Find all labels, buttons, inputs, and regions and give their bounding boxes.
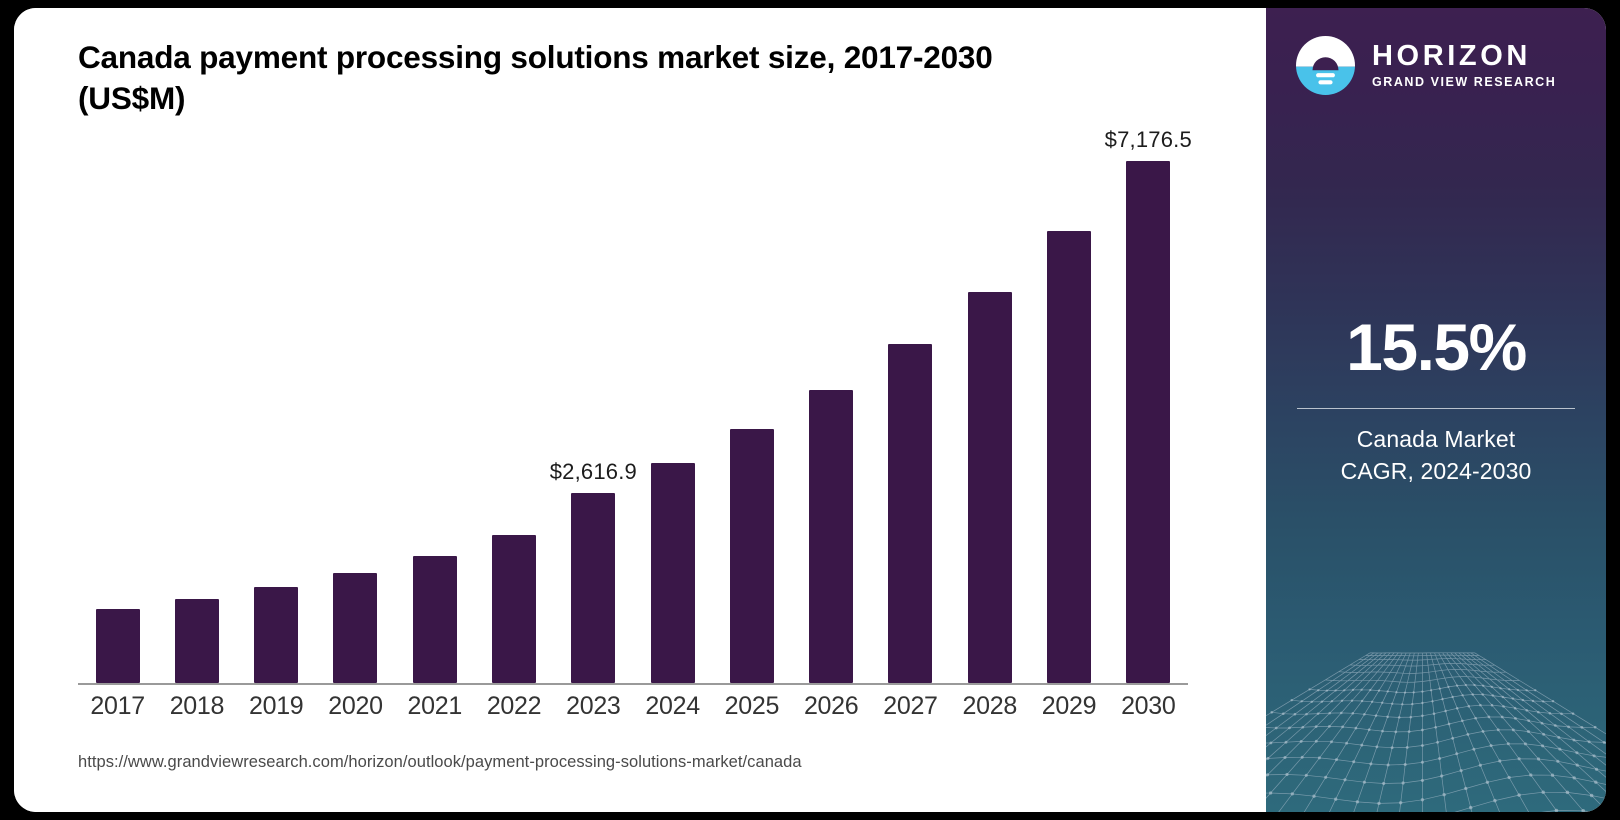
cagr-value: 15.5% [1266, 308, 1606, 386]
bar-slot: $7,176.5 [1109, 130, 1188, 683]
x-axis-label-2022: 2022 [474, 692, 553, 721]
bar-slot [395, 130, 474, 683]
bar[interactable] [730, 429, 774, 683]
x-axis-label-2020: 2020 [316, 692, 395, 721]
bar-slot [474, 130, 553, 683]
cagr-caption-line-2: CAGR, 2024-2030 [1266, 455, 1606, 487]
x-axis-label-2027: 2027 [871, 692, 950, 721]
page-title: Canada payment processing solutions mark… [78, 37, 1188, 119]
chart-card: Canada payment processing solutions mark… [14, 8, 1606, 812]
bar-slot [871, 130, 950, 683]
x-axis-label-2025: 2025 [712, 692, 791, 721]
source-url[interactable]: https://www.grandviewresearch.com/horizo… [78, 753, 802, 772]
bar-slot [78, 130, 157, 683]
logo-wordmark: HORIZON [1372, 41, 1556, 72]
x-axis-label-2017: 2017 [78, 692, 157, 721]
bar-slot [1029, 130, 1108, 683]
x-axis-label-2024: 2024 [633, 692, 712, 721]
bar-slot [633, 130, 712, 683]
bar[interactable] [1047, 231, 1091, 683]
chart-title-line-2: (US$M) [78, 80, 185, 116]
bar[interactable] [333, 573, 377, 683]
bar[interactable] [413, 556, 457, 683]
bar-slot [316, 130, 395, 683]
x-axis-label-2028: 2028 [950, 692, 1029, 721]
bar-slot [712, 130, 791, 683]
bar-slot [950, 130, 1029, 683]
x-axis-label-2030: 2030 [1109, 692, 1188, 721]
x-axis-label-2018: 2018 [157, 692, 236, 721]
logo-tagline: GRAND VIEW RESEARCH [1372, 73, 1556, 91]
x-axis-tick-labels: 2017201820192020202120222023202420252026… [78, 692, 1188, 721]
bar[interactable] [96, 609, 140, 683]
wireframe-terrain-graphic [1266, 622, 1606, 812]
bar[interactable] [175, 599, 219, 683]
brand-sidebar: HORIZON GRAND VIEW RESEARCH 15.5% Canada… [1266, 8, 1606, 812]
x-axis-label-2029: 2029 [1029, 692, 1108, 721]
x-axis-label-2019: 2019 [237, 692, 316, 721]
x-axis-label-2021: 2021 [395, 692, 474, 721]
x-axis-line [78, 683, 1188, 685]
logo-text: HORIZON GRAND VIEW RESEARCH [1372, 41, 1556, 91]
bar-slot [157, 130, 236, 683]
bar-slot: $2,616.9 [554, 130, 633, 683]
bar[interactable] [571, 493, 615, 683]
plot-area: $2,616.9$7,176.5 [78, 130, 1188, 683]
bar[interactable] [809, 390, 853, 683]
x-axis-label-2023: 2023 [554, 692, 633, 721]
divider [1297, 408, 1575, 409]
bar[interactable] [254, 587, 298, 683]
bar-series: $2,616.9$7,176.5 [78, 130, 1188, 683]
horizon-sunrise-logo-icon [1296, 36, 1355, 95]
bar[interactable] [1126, 161, 1170, 683]
chart-title-line-1: Canada payment processing solutions mark… [78, 39, 993, 75]
bar[interactable] [492, 535, 536, 684]
bar-slot [237, 130, 316, 683]
logo: HORIZON GRAND VIEW RESEARCH [1296, 36, 1556, 95]
cagr-caption-line-1: Canada Market [1266, 423, 1606, 455]
cagr-block: 15.5% Canada Market CAGR, 2024-2030 [1266, 308, 1606, 487]
bar-value-label: $7,176.5 [1105, 127, 1192, 153]
bar-slot [792, 130, 871, 683]
bar-value-label: $2,616.9 [550, 459, 637, 485]
chart-panel: Canada payment processing solutions mark… [14, 8, 1250, 812]
bar[interactable] [651, 463, 695, 683]
bar[interactable] [968, 292, 1012, 683]
bar[interactable] [888, 344, 932, 683]
x-axis-label-2026: 2026 [792, 692, 871, 721]
